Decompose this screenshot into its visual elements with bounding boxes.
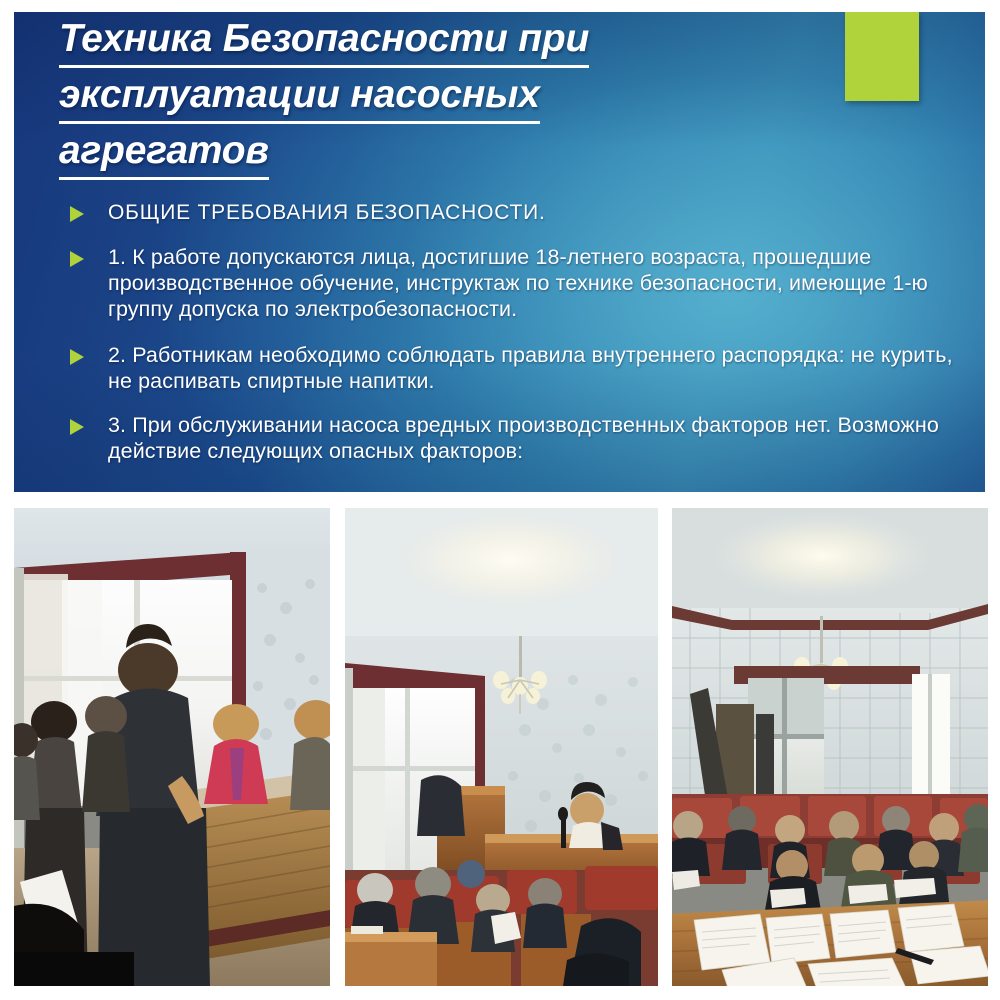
photo-strip: [14, 508, 988, 986]
bullet-item-3: 2. Работникам необходимо соблюдать прави…: [62, 342, 962, 394]
bullet-list: ОБЩИЕ ТРЕБОВАНИЯ БЕЗОПАСНОСТИ. 1. К рабо…: [62, 200, 962, 464]
bullet-item-1: ОБЩИЕ ТРЕБОВАНИЯ БЕЗОПАСНОСТИ.: [62, 200, 962, 226]
title-line-2-text: эксплуатации насосных: [59, 70, 540, 124]
presentation-slide: Техника Безопасности при эксплуатации на…: [14, 12, 985, 492]
photo-lecture-hall-front-image: [345, 508, 658, 986]
bullet-item-1-text: ОБЩИЕ ТРЕБОВАНИЯ БЕЗОПАСНОСТИ.: [108, 200, 962, 226]
bullet-item-2: 1. К работе допускаются лица, достигшие …: [62, 244, 962, 322]
green-triangle-bullet-icon: [70, 251, 84, 267]
title-line-1: Техника Безопасности при: [59, 14, 739, 70]
title-line-3-text: агрегатов: [59, 126, 269, 180]
photo-meeting-at-desk-image: [14, 508, 330, 986]
bullet-item-2-text: 1. К работе допускаются лица, достигшие …: [108, 244, 962, 322]
green-accent-rectangle: [845, 12, 919, 101]
bullet-item-3-text: 2. Работникам необходимо соблюдать прави…: [108, 342, 962, 394]
photo-lecture-hall-front: [345, 508, 658, 986]
green-triangle-bullet-icon: [70, 349, 84, 365]
green-triangle-bullet-icon: [70, 419, 84, 435]
photo-briefing-room-papers-image: [672, 508, 988, 986]
title-line-3: агрегатов: [59, 126, 739, 182]
slide-page: Техника Безопасности при эксплуатации на…: [0, 0, 1000, 1000]
bullet-item-4-text: 3. При обслуживании насоса вредных произ…: [108, 412, 962, 464]
title-line-1-text: Техника Безопасности при: [59, 14, 589, 68]
photo-briefing-room-papers: [672, 508, 988, 986]
page-title: Техника Безопасности при эксплуатации на…: [59, 14, 739, 182]
title-line-2: эксплуатации насосных: [59, 70, 739, 126]
green-triangle-bullet-icon: [70, 206, 84, 222]
bullet-item-4: 3. При обслуживании насоса вредных произ…: [62, 412, 962, 464]
photo-meeting-at-desk: [14, 508, 330, 986]
